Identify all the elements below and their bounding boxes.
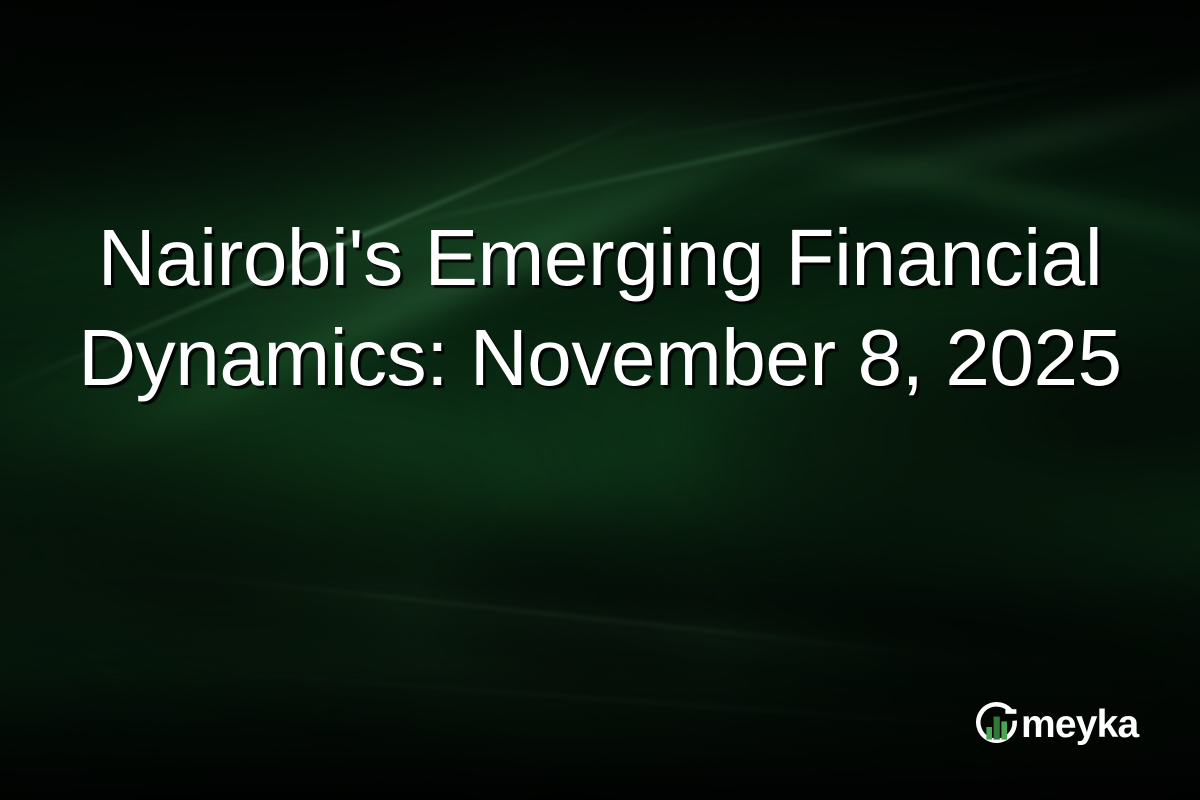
title-line-2: Dynamics: November 8, 2025 [0, 308, 1200, 408]
brand-name: meyka [1021, 703, 1138, 747]
title-line-1: Nairobi's Emerging Financial [0, 208, 1200, 308]
brand-logo[interactable]: meyka [972, 700, 1138, 750]
page-title: Nairobi's Emerging Financial Dynamics: N… [0, 208, 1200, 408]
bar-chart-in-circle-icon [972, 700, 1022, 750]
banner-canvas: Nairobi's Emerging Financial Dynamics: N… [0, 0, 1200, 800]
